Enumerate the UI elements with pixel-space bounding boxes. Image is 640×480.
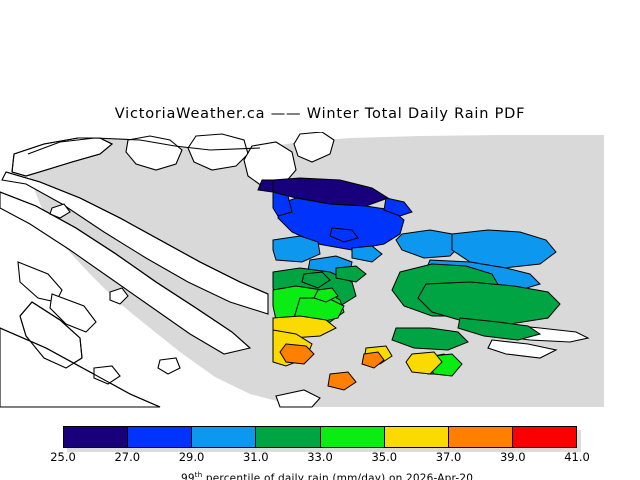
weather-map-page: VictoriaWeather.ca —— Winter Total Daily… bbox=[0, 0, 640, 480]
colorbar-segment-1[interactable] bbox=[128, 427, 192, 447]
colorbar[interactable] bbox=[63, 426, 577, 448]
colorbar-segment-2[interactable] bbox=[192, 427, 256, 447]
colorbar-segment-4[interactable] bbox=[321, 427, 385, 447]
colorbar-segments[interactable] bbox=[63, 426, 577, 448]
caption-suffix: percentile of daily rain (mm/day) on 202… bbox=[202, 473, 473, 480]
colorbar-segment-3[interactable] bbox=[256, 427, 320, 447]
colorbar-segment-7[interactable] bbox=[513, 427, 576, 447]
colorbar-segment-5[interactable] bbox=[385, 427, 449, 447]
colorbar-segment-6[interactable] bbox=[449, 427, 513, 447]
map-panel[interactable] bbox=[0, 132, 640, 410]
caption-prefix: 99 bbox=[181, 473, 195, 480]
colorbar-segment-0[interactable] bbox=[64, 427, 128, 447]
map-svg[interactable] bbox=[0, 132, 640, 410]
page-title: VictoriaWeather.ca —— Winter Total Daily… bbox=[0, 106, 640, 122]
colorbar-caption: 99th percentile of daily rain (mm/day) o… bbox=[0, 459, 640, 480]
